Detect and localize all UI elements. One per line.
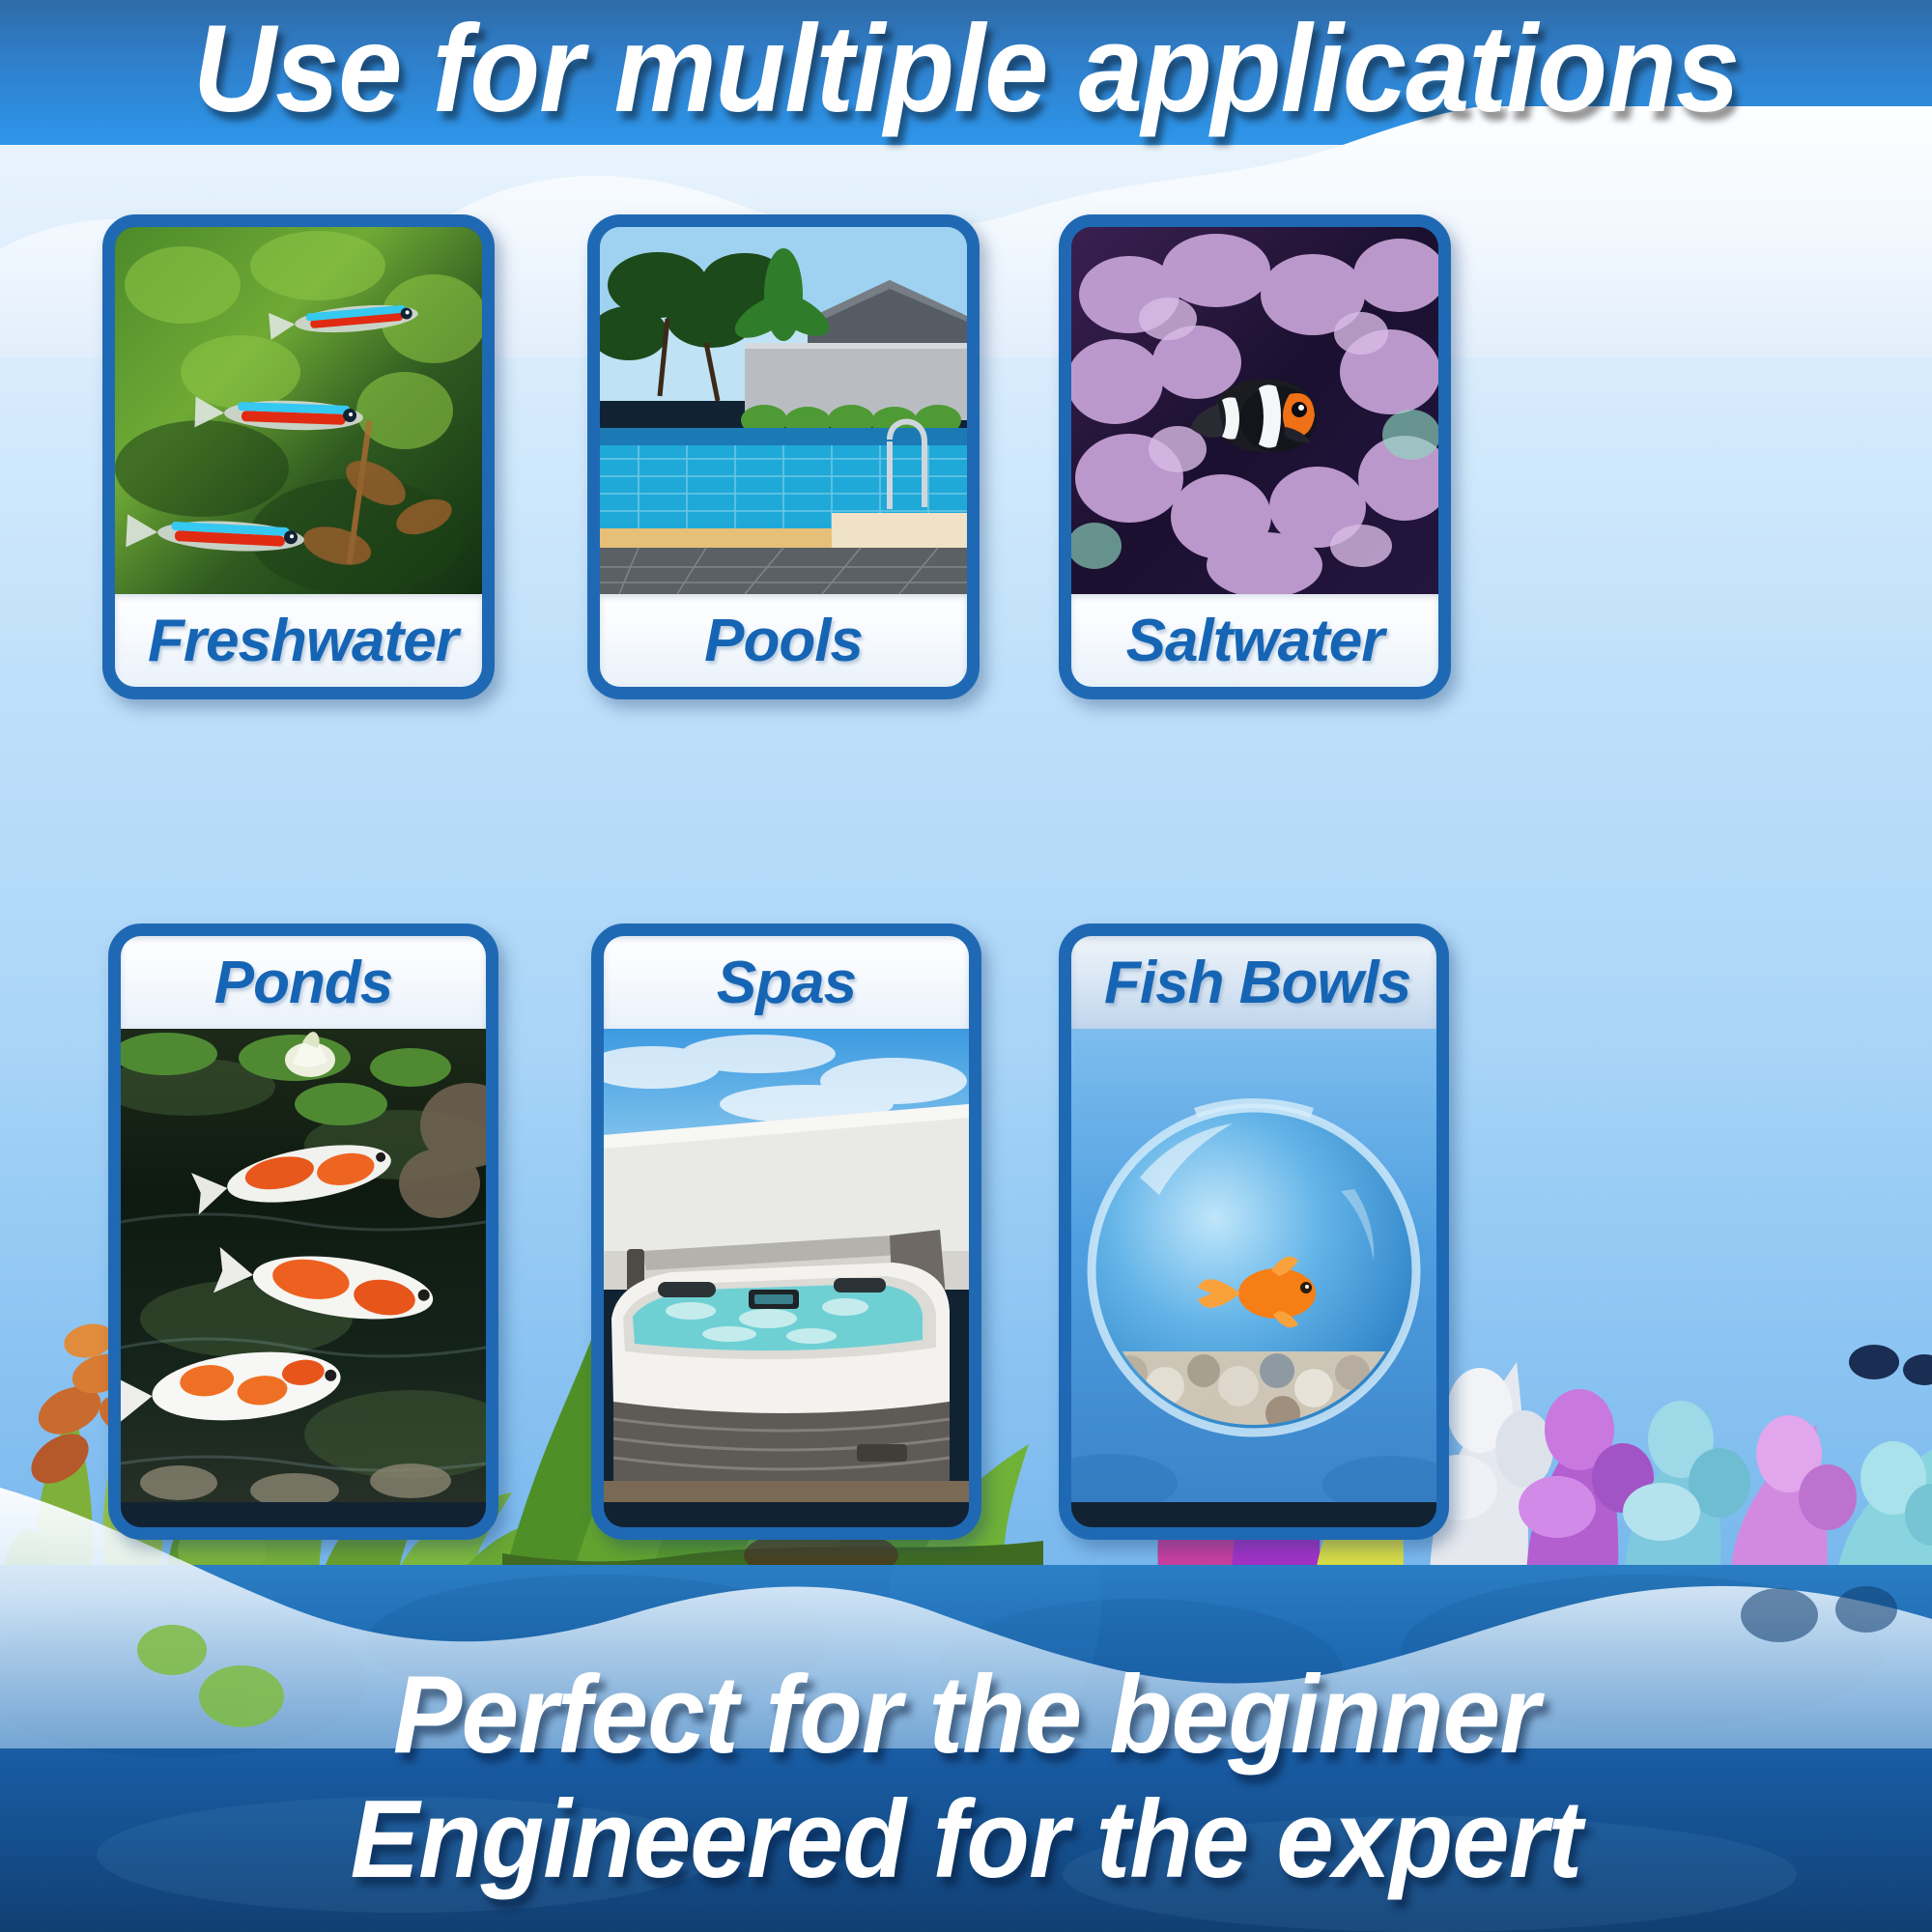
card-label-band-ponds: Ponds — [121, 936, 486, 1029]
footer-line-1: Perfect for the beginner — [58, 1654, 1874, 1778]
koi-pond-icon — [121, 1029, 486, 1502]
card-image-ponds — [121, 1029, 486, 1527]
backyard-swimming-pool-icon — [600, 227, 967, 594]
application-card-saltwater[interactable]: Saltwater — [1059, 214, 1451, 699]
outdoor-hot-tub-icon — [604, 1029, 969, 1502]
card-image-saltwater — [1071, 227, 1438, 594]
card-label-ponds: Ponds — [121, 949, 486, 1017]
card-label-pools: Pools — [600, 607, 967, 675]
application-card-spas[interactable]: Spas — [591, 923, 981, 1540]
application-card-fishbowls[interactable]: Fish Bowls — [1059, 923, 1449, 1540]
infographic-root: Use for multiple applications — [0, 0, 1932, 1932]
card-image-spas — [604, 1029, 969, 1527]
footer-tagline: Perfect for the beginner Engineered for … — [58, 1654, 1874, 1903]
footer-line-2: Engineered for the expert — [58, 1778, 1874, 1903]
card-label-spas: Spas — [604, 949, 969, 1017]
card-image-pools — [600, 227, 967, 594]
card-label-band-spas: Spas — [604, 936, 969, 1029]
application-card-ponds[interactable]: Ponds — [108, 923, 498, 1540]
application-card-freshwater[interactable]: Freshwater — [102, 214, 495, 699]
clownfish-in-coral-icon — [1071, 227, 1438, 594]
card-label-band-fishbowls: Fish Bowls — [1071, 936, 1436, 1029]
card-image-freshwater — [115, 227, 482, 594]
card-label-band-pools: Pools — [600, 594, 967, 687]
application-card-pools[interactable]: Pools — [587, 214, 980, 699]
card-label-fishbowls: Fish Bowls — [1071, 949, 1436, 1017]
card-label-band-freshwater: Freshwater — [115, 594, 482, 687]
card-image-fishbowls — [1071, 1029, 1436, 1527]
card-label-saltwater: Saltwater — [1071, 607, 1438, 675]
card-label-band-saltwater: Saltwater — [1071, 594, 1438, 687]
goldfish-in-bowl-icon — [1071, 1029, 1436, 1502]
planted-aquarium-neon-tetra-icon — [115, 227, 482, 594]
card-label-freshwater: Freshwater — [115, 607, 482, 675]
page-title: Use for multiple applications — [68, 8, 1864, 131]
